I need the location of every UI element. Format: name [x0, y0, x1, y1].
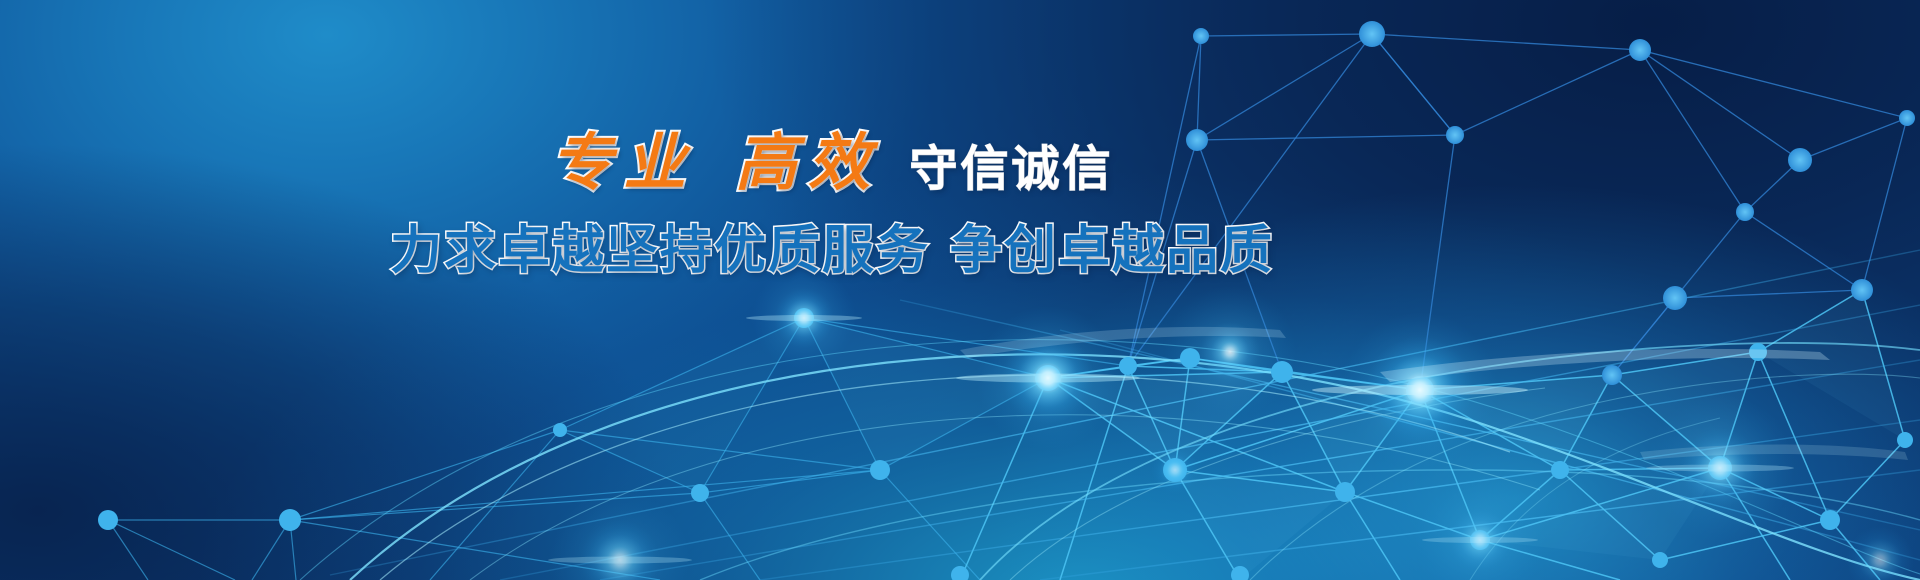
network-node: [1851, 279, 1873, 301]
network-node: [1899, 110, 1915, 126]
network-node: [1446, 126, 1464, 144]
network-node: [98, 510, 118, 530]
hero-banner: 专业 高效 守信诚信 力求卓越坚持优质服务 争创卓越品质: [0, 0, 1920, 580]
network-node: [1897, 432, 1913, 448]
network-mesh-graphic: [0, 0, 1920, 580]
network-node: [1180, 348, 1200, 368]
network-node: [691, 484, 709, 502]
network-node: [1788, 148, 1812, 172]
network-node: [1359, 21, 1385, 47]
network-node: [1193, 28, 1209, 44]
network-node: [1551, 461, 1569, 479]
network-node: [1629, 39, 1651, 61]
network-node: [1271, 361, 1293, 383]
network-node: [1119, 357, 1137, 375]
network-node: [553, 423, 567, 437]
network-node: [1663, 286, 1687, 310]
network-node: [279, 509, 301, 531]
network-node: [951, 566, 969, 580]
network-node: [870, 460, 890, 480]
network-node: [1186, 129, 1208, 151]
network-node: [1602, 365, 1622, 385]
network-node: [1820, 510, 1840, 530]
network-node: [1652, 552, 1668, 568]
network-node: [1736, 203, 1754, 221]
network-node: [1335, 482, 1355, 502]
